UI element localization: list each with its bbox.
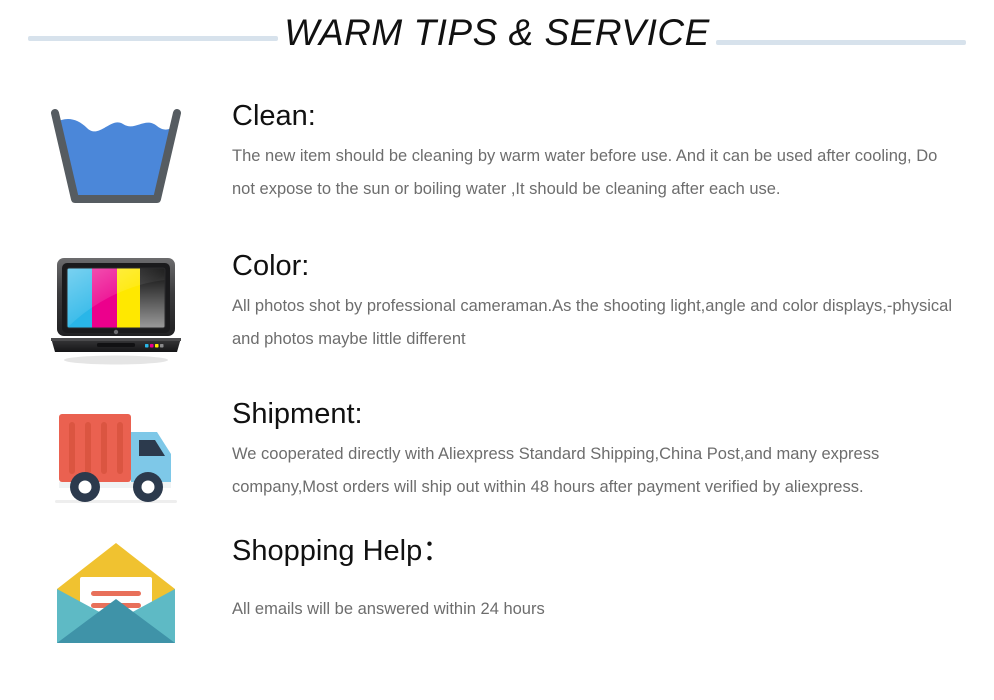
text-cell-help: Shopping Help： All emails will be answer… [232,535,994,626]
open-envelope-icon [53,539,179,651]
section-body-shipment: We cooperated directly with Aliexpress S… [232,438,952,502]
section-body-help: All emails will be answered within 24 ho… [232,593,952,625]
section-body-color: All photos shot by professional camerama… [232,290,952,354]
section-title-shipment: Shipment: [232,398,970,430]
section-color: Color: All photos shot by professional c… [0,250,994,366]
section-help: Shopping Help： All emails will be answer… [0,535,994,651]
section-shipment: Shipment: We cooperated directly with Al… [0,398,994,508]
section-title-color: Color: [232,250,970,282]
text-cell-color: Color: All photos shot by professional c… [232,250,994,355]
wash-basin-icon [45,104,187,208]
icon-cell-shipment [0,398,232,508]
page-header: WARM TIPS & SERVICE [0,0,994,92]
icon-cell-clean [0,100,232,208]
delivery-truck-icon [45,402,187,508]
text-cell-shipment: Shipment: We cooperated directly with Al… [232,398,994,503]
laptop-color-bars-icon [49,254,183,366]
section-title-help: Shopping Help： [232,535,970,567]
section-title-clean: Clean: [232,100,970,132]
section-clean: Clean: The new item should be cleaning b… [0,100,994,208]
icon-cell-help [0,535,232,651]
icon-cell-color [0,250,232,366]
header-rule-right [716,40,966,45]
section-body-clean: The new item should be cleaning by warm … [232,140,952,204]
page-title: WARM TIPS & SERVICE [0,12,994,54]
text-cell-clean: Clean: The new item should be cleaning b… [232,100,994,205]
